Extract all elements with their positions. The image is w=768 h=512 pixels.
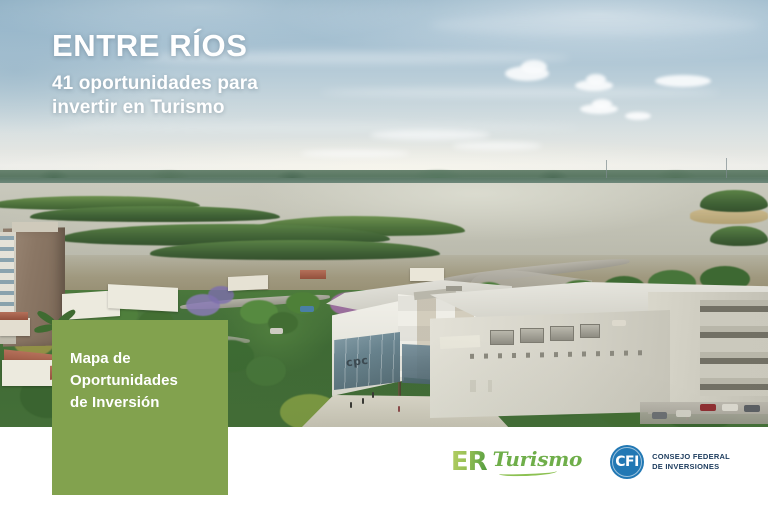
tile-roof [0,312,28,320]
er-turismo-logo: ER Turismo [451,449,584,476]
cpc-building-sign: cpc [345,354,369,370]
car [300,306,314,312]
wall-window [488,380,492,392]
cfi-name-line-1: CONSEJO FEDERAL [652,452,730,462]
wall-window [470,380,476,392]
rooftop-ac-unit [580,324,600,338]
er-wordmark: ER [451,449,487,475]
cloud [452,142,542,150]
turismo-wordmark: Turismo [493,447,582,471]
house [108,284,178,312]
tower-rooftop [12,222,58,232]
cloud-streak [60,122,580,132]
cover-subtitle-line-1: 41 oportunidades para [52,72,258,96]
sandbar-island [700,190,768,212]
rooftop-ac-unit [490,330,514,345]
rooftop-ac-unit [520,328,544,343]
cloud [625,112,651,120]
tree [246,356,286,386]
green-highlight-panel: Mapa de Oportunidades de Inversión [52,320,228,495]
cloud [300,150,410,157]
cloud [655,75,711,87]
cloud [586,74,606,85]
turismo-script-wrap: Turismo [493,449,584,476]
logo-row: ER Turismo CFI CONSEJO FEDERAL DE INVERS… [451,445,730,479]
cfi-wordmark: CFI [615,455,639,469]
tile-roof [300,270,326,279]
rooftop-equipment [446,286,462,291]
swoosh-underline-icon [499,468,557,477]
car [270,328,283,334]
cfi-name-line-2: DE INVERSIONES [652,462,730,472]
car [676,410,691,417]
cloud-streak [430,14,760,36]
cfi-circle-badge: CFI [610,445,644,479]
car [612,320,626,326]
antenna-mast [606,160,607,178]
car [744,405,760,412]
cfi-name: CONSEJO FEDERAL DE INVERSIONES [652,452,730,472]
green-panel-line-2: Oportunidades [70,370,178,392]
green-panel-line-1: Mapa de [70,348,178,370]
rooftop-shed [440,335,481,349]
page-title: ENTRE RÍOS [52,30,258,63]
shore-vegetation [710,226,768,246]
cover-subtitle: 41 oportunidades para invertir en Turism… [52,72,258,120]
pedestrian [362,398,364,404]
pedestrian [350,402,352,408]
car [722,404,738,411]
cloud [370,130,490,140]
cover-page: cpc ENTRE RÍOS [0,0,768,512]
cloud [521,60,547,74]
green-panel-text: Mapa de Oportunidades de Inversión [52,320,192,413]
car [652,412,667,419]
parking-levels [700,300,768,396]
green-panel-line-3: de Inversión [70,392,178,414]
car [700,404,716,411]
sandbar-island [30,206,280,222]
antenna-mast [726,158,727,178]
cloud-streak [320,88,720,97]
house [228,275,268,291]
cfi-logo: CFI CONSEJO FEDERAL DE INVERSIONES [610,445,730,479]
pedestrian [372,392,374,398]
rooftop-ac-unit [550,326,574,341]
sandbar-island [150,240,440,260]
far-treeline [0,168,768,178]
cover-subtitle-line-2: invertir en Turismo [52,96,258,120]
cover-title-block: ENTRE RÍOS 41 oportunidades para inverti… [52,30,258,119]
pedestrian [398,406,400,412]
cloud [592,99,612,109]
house [0,318,30,336]
